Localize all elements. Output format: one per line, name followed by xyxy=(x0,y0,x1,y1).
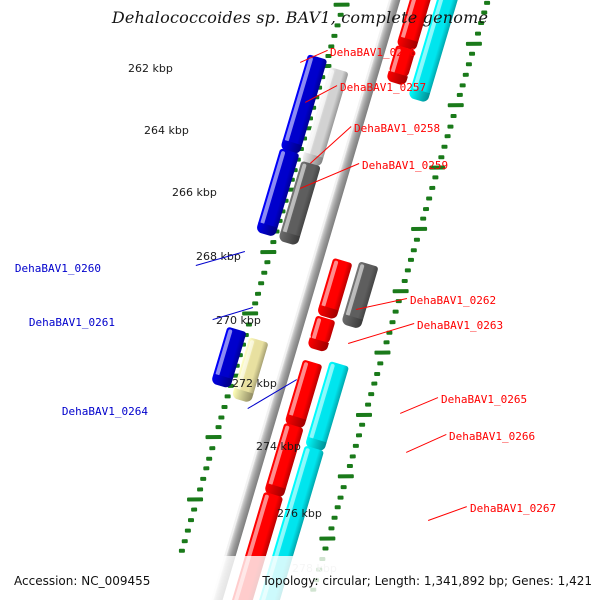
ruler-position-label: 272 kbp xyxy=(232,377,277,390)
ruler-tick-major xyxy=(448,103,464,107)
gene-label-dehabav1_0259[interactable]: DehaBAV1_0259 xyxy=(362,159,448,172)
ruler-position-label: 274 kbp xyxy=(256,440,301,453)
ruler-tick-minor xyxy=(463,73,469,77)
ruler-tick-minor xyxy=(347,464,353,468)
ruler-tick-minor xyxy=(432,176,438,180)
gene-label-dehabav1_0256[interactable]: DehaBAV1_0256 xyxy=(330,46,416,59)
ruler-tick-minor xyxy=(371,382,377,386)
gene-label-dehabav1_0261[interactable]: DehaBAV1_0261 xyxy=(29,316,115,329)
ruler-tick-minor xyxy=(405,268,411,272)
ruler-tick-minor xyxy=(408,258,414,262)
ruler-tick-minor xyxy=(356,433,362,437)
ruler-tick-minor xyxy=(414,237,420,241)
ruler-tick-major xyxy=(393,289,409,293)
ruler-tick-minor xyxy=(197,487,203,491)
ruler-tick-minor xyxy=(377,361,383,365)
ruler-tick-minor xyxy=(383,341,389,345)
genome-map-canvas: 262 kbp264 kbp266 kbp268 kbp270 kbp272 k… xyxy=(0,0,600,600)
ruler-tick-minor xyxy=(225,394,231,398)
ruler-tick-major xyxy=(338,474,354,478)
ruler-tick-minor xyxy=(219,415,225,419)
ruler-tick-minor xyxy=(179,549,185,553)
gene-label-dehabav1_0266[interactable]: DehaBAV1_0266 xyxy=(449,430,535,443)
ruler-tick-major xyxy=(319,536,335,540)
ruler-tick-minor xyxy=(460,83,466,87)
ruler-position-label: 264 kbp xyxy=(144,124,189,137)
ruler-tick-minor xyxy=(475,31,481,35)
ruler-tick-minor xyxy=(185,528,191,532)
ruler-tick-minor xyxy=(393,310,399,314)
ruler-tick-minor xyxy=(322,547,328,551)
ruler-position-label: 262 kbp xyxy=(128,62,173,75)
ruler-tick-minor xyxy=(182,539,188,543)
ruler-tick-minor xyxy=(402,279,408,283)
ruler-tick-minor xyxy=(222,405,228,409)
gene-label-dehabav1_0265[interactable]: DehaBAV1_0265 xyxy=(441,393,527,406)
gene-label-dehabav1_0262[interactable]: DehaBAV1_0262 xyxy=(410,294,496,307)
footer: Accession: NC_009455 Topology: circular;… xyxy=(0,572,600,588)
ruler-tick-minor xyxy=(255,291,261,295)
ruler-tick-minor xyxy=(332,516,338,520)
ruler-tick-major xyxy=(260,249,276,253)
ruler-tick-major xyxy=(356,412,372,416)
ruler-tick-minor xyxy=(426,196,432,200)
gene-label-dehabav1_0257[interactable]: DehaBAV1_0257 xyxy=(340,81,426,94)
ruler-tick-minor xyxy=(365,402,371,406)
ruler-tick-major xyxy=(187,497,203,501)
ruler-tick-minor xyxy=(429,186,435,190)
ruler-tick-major xyxy=(466,41,482,45)
ruler-tick-minor xyxy=(451,114,457,118)
ruler-tick-minor xyxy=(411,248,417,252)
gene-label-dehabav1_0258[interactable]: DehaBAV1_0258 xyxy=(354,122,440,135)
ruler-tick-minor xyxy=(390,320,396,324)
ruler-tick-minor xyxy=(423,207,429,211)
ruler-tick-minor xyxy=(328,526,334,530)
page-title: Dehalococcoides sp. BAV1, complete genom… xyxy=(0,8,600,27)
ruler-tick-minor xyxy=(466,62,472,66)
ruler-tick-minor xyxy=(209,446,215,450)
ruler-tick-minor xyxy=(191,508,197,512)
ruler-tick-minor xyxy=(258,281,264,285)
ruler-tick-major xyxy=(411,227,427,231)
ruler-tick-minor xyxy=(261,271,267,275)
ruler-tick-minor xyxy=(448,124,454,128)
gene-label-dehabav1_0267[interactable]: DehaBAV1_0267 xyxy=(470,502,556,515)
gene-label-dehabav1_0260[interactable]: DehaBAV1_0260 xyxy=(15,262,101,275)
ruler-tick-minor xyxy=(469,52,475,56)
ruler-tick-minor xyxy=(441,145,447,149)
ruler-tick-major xyxy=(334,2,350,6)
ruler-tick-minor xyxy=(368,392,374,396)
ruler-tick-minor xyxy=(359,423,365,427)
ruler-tick-minor xyxy=(420,217,426,221)
ruler-tick-minor xyxy=(203,467,209,471)
ruler-tick-minor xyxy=(353,444,359,448)
gene-label-dehabav1_0264[interactable]: DehaBAV1_0264 xyxy=(62,405,148,418)
ruler-tick-minor xyxy=(445,134,451,138)
ruler-tick-minor xyxy=(374,371,380,375)
ruler-tick-minor xyxy=(341,485,347,489)
ruler-tick-minor xyxy=(335,505,341,509)
ruler-tick-minor xyxy=(350,454,356,458)
ruler-tick-minor xyxy=(457,93,463,97)
ruler-tick-minor xyxy=(252,302,258,306)
ruler-tick-major xyxy=(374,351,390,355)
ruler-tick-major xyxy=(205,435,221,439)
ruler-position-label: 276 kbp xyxy=(277,507,322,520)
ruler-position-label: 268 kbp xyxy=(196,250,241,263)
ruler-tick-minor xyxy=(215,425,221,429)
ruler-tick-minor xyxy=(338,495,344,499)
ruler-tick-minor xyxy=(264,260,270,264)
accession-text: Accession: NC_009455 xyxy=(14,574,150,588)
ruler-tick-minor xyxy=(270,240,276,244)
topology-text: Topology: circular; Length: 1,341,892 bp… xyxy=(262,574,592,588)
ruler-tick-minor xyxy=(206,456,212,460)
gene-label-dehabav1_0263[interactable]: DehaBAV1_0263 xyxy=(417,319,503,332)
gene-bar-forward[interactable] xyxy=(309,315,336,346)
ruler-tick-minor xyxy=(188,518,194,522)
ruler-tick-minor xyxy=(200,477,206,481)
ruler-position-label: 266 kbp xyxy=(172,186,217,199)
ruler-tick-minor xyxy=(484,0,490,4)
ruler-tick-minor xyxy=(331,34,337,38)
